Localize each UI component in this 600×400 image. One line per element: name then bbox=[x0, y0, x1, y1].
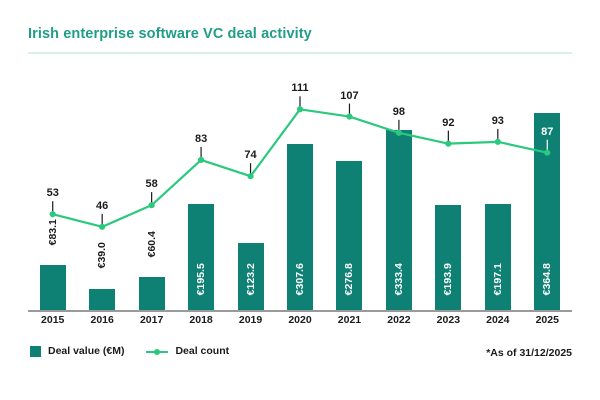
legend-bar-label: Deal value (€M) bbox=[48, 345, 124, 357]
line-value-label: 58 bbox=[146, 178, 158, 190]
page-title: Irish enterprise software VC deal activi… bbox=[28, 26, 312, 42]
line-data-point[interactable] bbox=[346, 113, 352, 119]
chart-page: Irish enterprise software VC deal activi… bbox=[0, 0, 600, 400]
legend-item-deal-value[interactable]: Deal value (€M) bbox=[30, 345, 124, 357]
line-data-point[interactable] bbox=[445, 141, 451, 147]
line-data-point[interactable] bbox=[50, 211, 56, 217]
line-value-label: 93 bbox=[492, 115, 504, 127]
legend-item-deal-count[interactable]: Deal count bbox=[146, 345, 229, 357]
x-axis-tick-labels: 2015201620172018201920202021202220232024… bbox=[0, 314, 600, 334]
x-tick-label: 2016 bbox=[90, 314, 113, 326]
x-tick-label: 2019 bbox=[239, 314, 262, 326]
x-tick-label: 2024 bbox=[486, 314, 509, 326]
line-data-point[interactable] bbox=[198, 157, 204, 163]
x-tick-label: 2020 bbox=[288, 314, 311, 326]
footnote: *As of 31/12/2025 bbox=[486, 347, 572, 359]
x-tick-label: 2022 bbox=[387, 314, 410, 326]
x-tick-label: 2021 bbox=[338, 314, 361, 326]
x-tick-label: 2023 bbox=[437, 314, 460, 326]
line-data-point[interactable] bbox=[544, 150, 550, 156]
line-path bbox=[53, 109, 548, 227]
line-value-label: 53 bbox=[47, 187, 59, 199]
legend-line-label: Deal count bbox=[175, 345, 229, 357]
x-tick-label: 2018 bbox=[189, 314, 212, 326]
line-value-label: 107 bbox=[340, 90, 358, 102]
x-tick-label: 2015 bbox=[41, 314, 64, 326]
line-value-label: 46 bbox=[96, 200, 108, 212]
line-value-label: 87 bbox=[541, 126, 553, 138]
line-data-point[interactable] bbox=[495, 139, 501, 145]
line-value-label: 83 bbox=[195, 133, 207, 145]
line-value-label: 92 bbox=[442, 117, 454, 129]
line-data-point[interactable] bbox=[247, 173, 253, 179]
line-data-point[interactable] bbox=[149, 202, 155, 208]
line-series bbox=[0, 56, 600, 312]
line-value-label: 98 bbox=[393, 106, 405, 118]
x-tick-label: 2017 bbox=[140, 314, 163, 326]
chart-legend: Deal value (€M) Deal count bbox=[30, 345, 229, 357]
title-divider bbox=[28, 52, 572, 54]
legend-line-marker-icon bbox=[146, 346, 168, 357]
plot-area: €83.1€39.0€60.4€195.5€123.2€307.6€276.8€… bbox=[0, 56, 600, 312]
line-data-point[interactable] bbox=[297, 106, 303, 112]
x-tick-label: 2025 bbox=[536, 314, 559, 326]
legend-bar-swatch-icon bbox=[30, 346, 41, 357]
title-block: Irish enterprise software VC deal activi… bbox=[0, 0, 600, 56]
line-value-label: 111 bbox=[291, 82, 308, 94]
line-data-point[interactable] bbox=[99, 224, 105, 230]
x-axis-line bbox=[28, 310, 572, 312]
line-value-label: 74 bbox=[244, 149, 256, 161]
line-data-point[interactable] bbox=[396, 130, 402, 136]
